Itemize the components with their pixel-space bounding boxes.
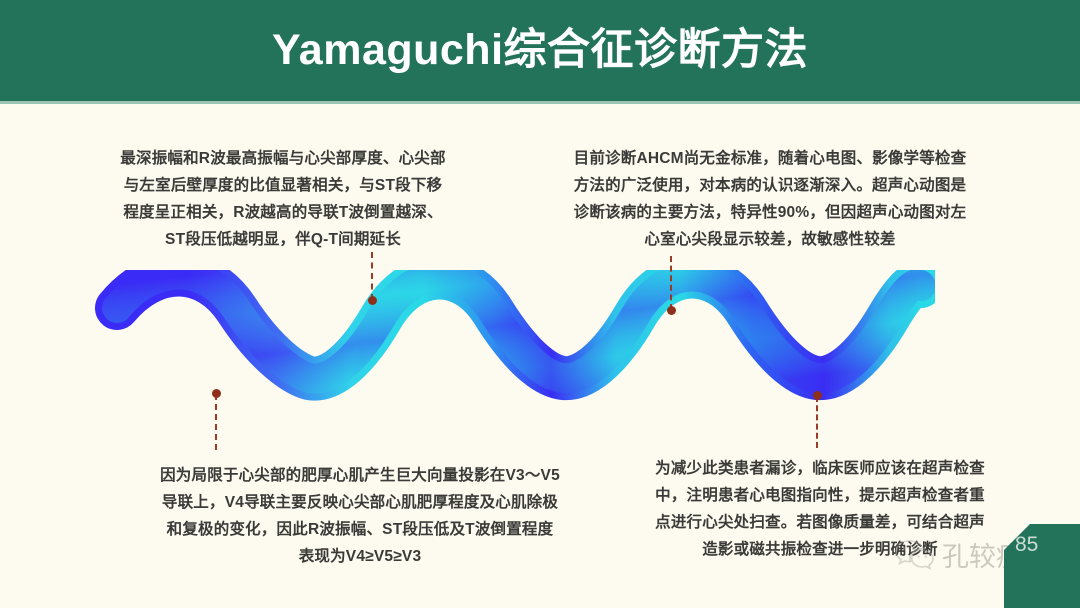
connector-line	[816, 396, 818, 448]
wechat-icon	[895, 538, 935, 575]
slide-root: Yamaguchi综合征诊断方法	[0, 0, 1080, 608]
wave-graphic	[95, 270, 935, 415]
corner-badge-number: 85	[1015, 533, 1038, 557]
callout-text-top-right: 目前诊断AHCM尚无金标准，随着心电图、影像学等检查方法的广泛使用，对本病的认识…	[568, 145, 972, 253]
connector-dot	[667, 306, 676, 315]
connector-dot	[368, 296, 377, 305]
callout-text-bottom-left: 因为局限于心尖部的肥厚心肌产生巨大向量投影在V3～V5导联上，V4导联主要反映心…	[160, 462, 560, 570]
watermark: 孔较瘦	[895, 538, 1023, 575]
connector-line	[371, 252, 373, 300]
connector-dot	[813, 391, 822, 400]
connector-line	[670, 256, 672, 310]
header-underline-divider	[0, 101, 1080, 104]
connector-dot	[212, 389, 221, 398]
page-title: Yamaguchi综合征诊断方法	[0, 25, 1080, 75]
connector-line	[215, 394, 217, 450]
callout-text-top-left: 最深振幅和R波最高振幅与心尖部厚度、心尖部与左室后壁厚度的比值显著相关，与ST段…	[118, 145, 448, 253]
